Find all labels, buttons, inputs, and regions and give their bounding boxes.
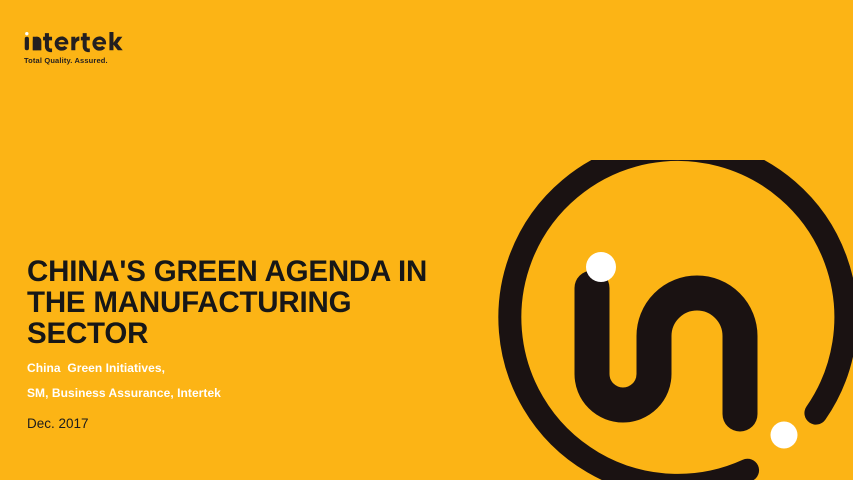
white-dot-icon-lower [771, 422, 798, 449]
monogram-in-glyph [592, 288, 740, 414]
slide-title: CHINA'S GREEN AGENDA IN THE MANUFACTURIN… [27, 256, 457, 349]
subtitle-line-2: SM, Business Assurance, Intertek [27, 381, 457, 406]
intertek-in-monogram-svg [468, 160, 853, 480]
subtitle-line-1: China Green Initiatives, [27, 356, 457, 381]
white-dot-icon-upper [586, 252, 616, 282]
title-slide: Total Quality. Assured. CHINA'S GREEN AG… [0, 0, 853, 480]
intertek-wordmark-icon [24, 28, 134, 55]
open-circle-icon [474, 160, 853, 480]
slide-date: Dec. 2017 [27, 415, 89, 433]
logo-tagline: Total Quality. Assured. [24, 56, 184, 66]
slide-subtitle: China Green Initiatives, SM, Business As… [27, 356, 457, 406]
brandmark-watermark [468, 160, 853, 480]
i-dot-icon [25, 32, 28, 35]
intertek-logo: Total Quality. Assured. [24, 28, 184, 74]
